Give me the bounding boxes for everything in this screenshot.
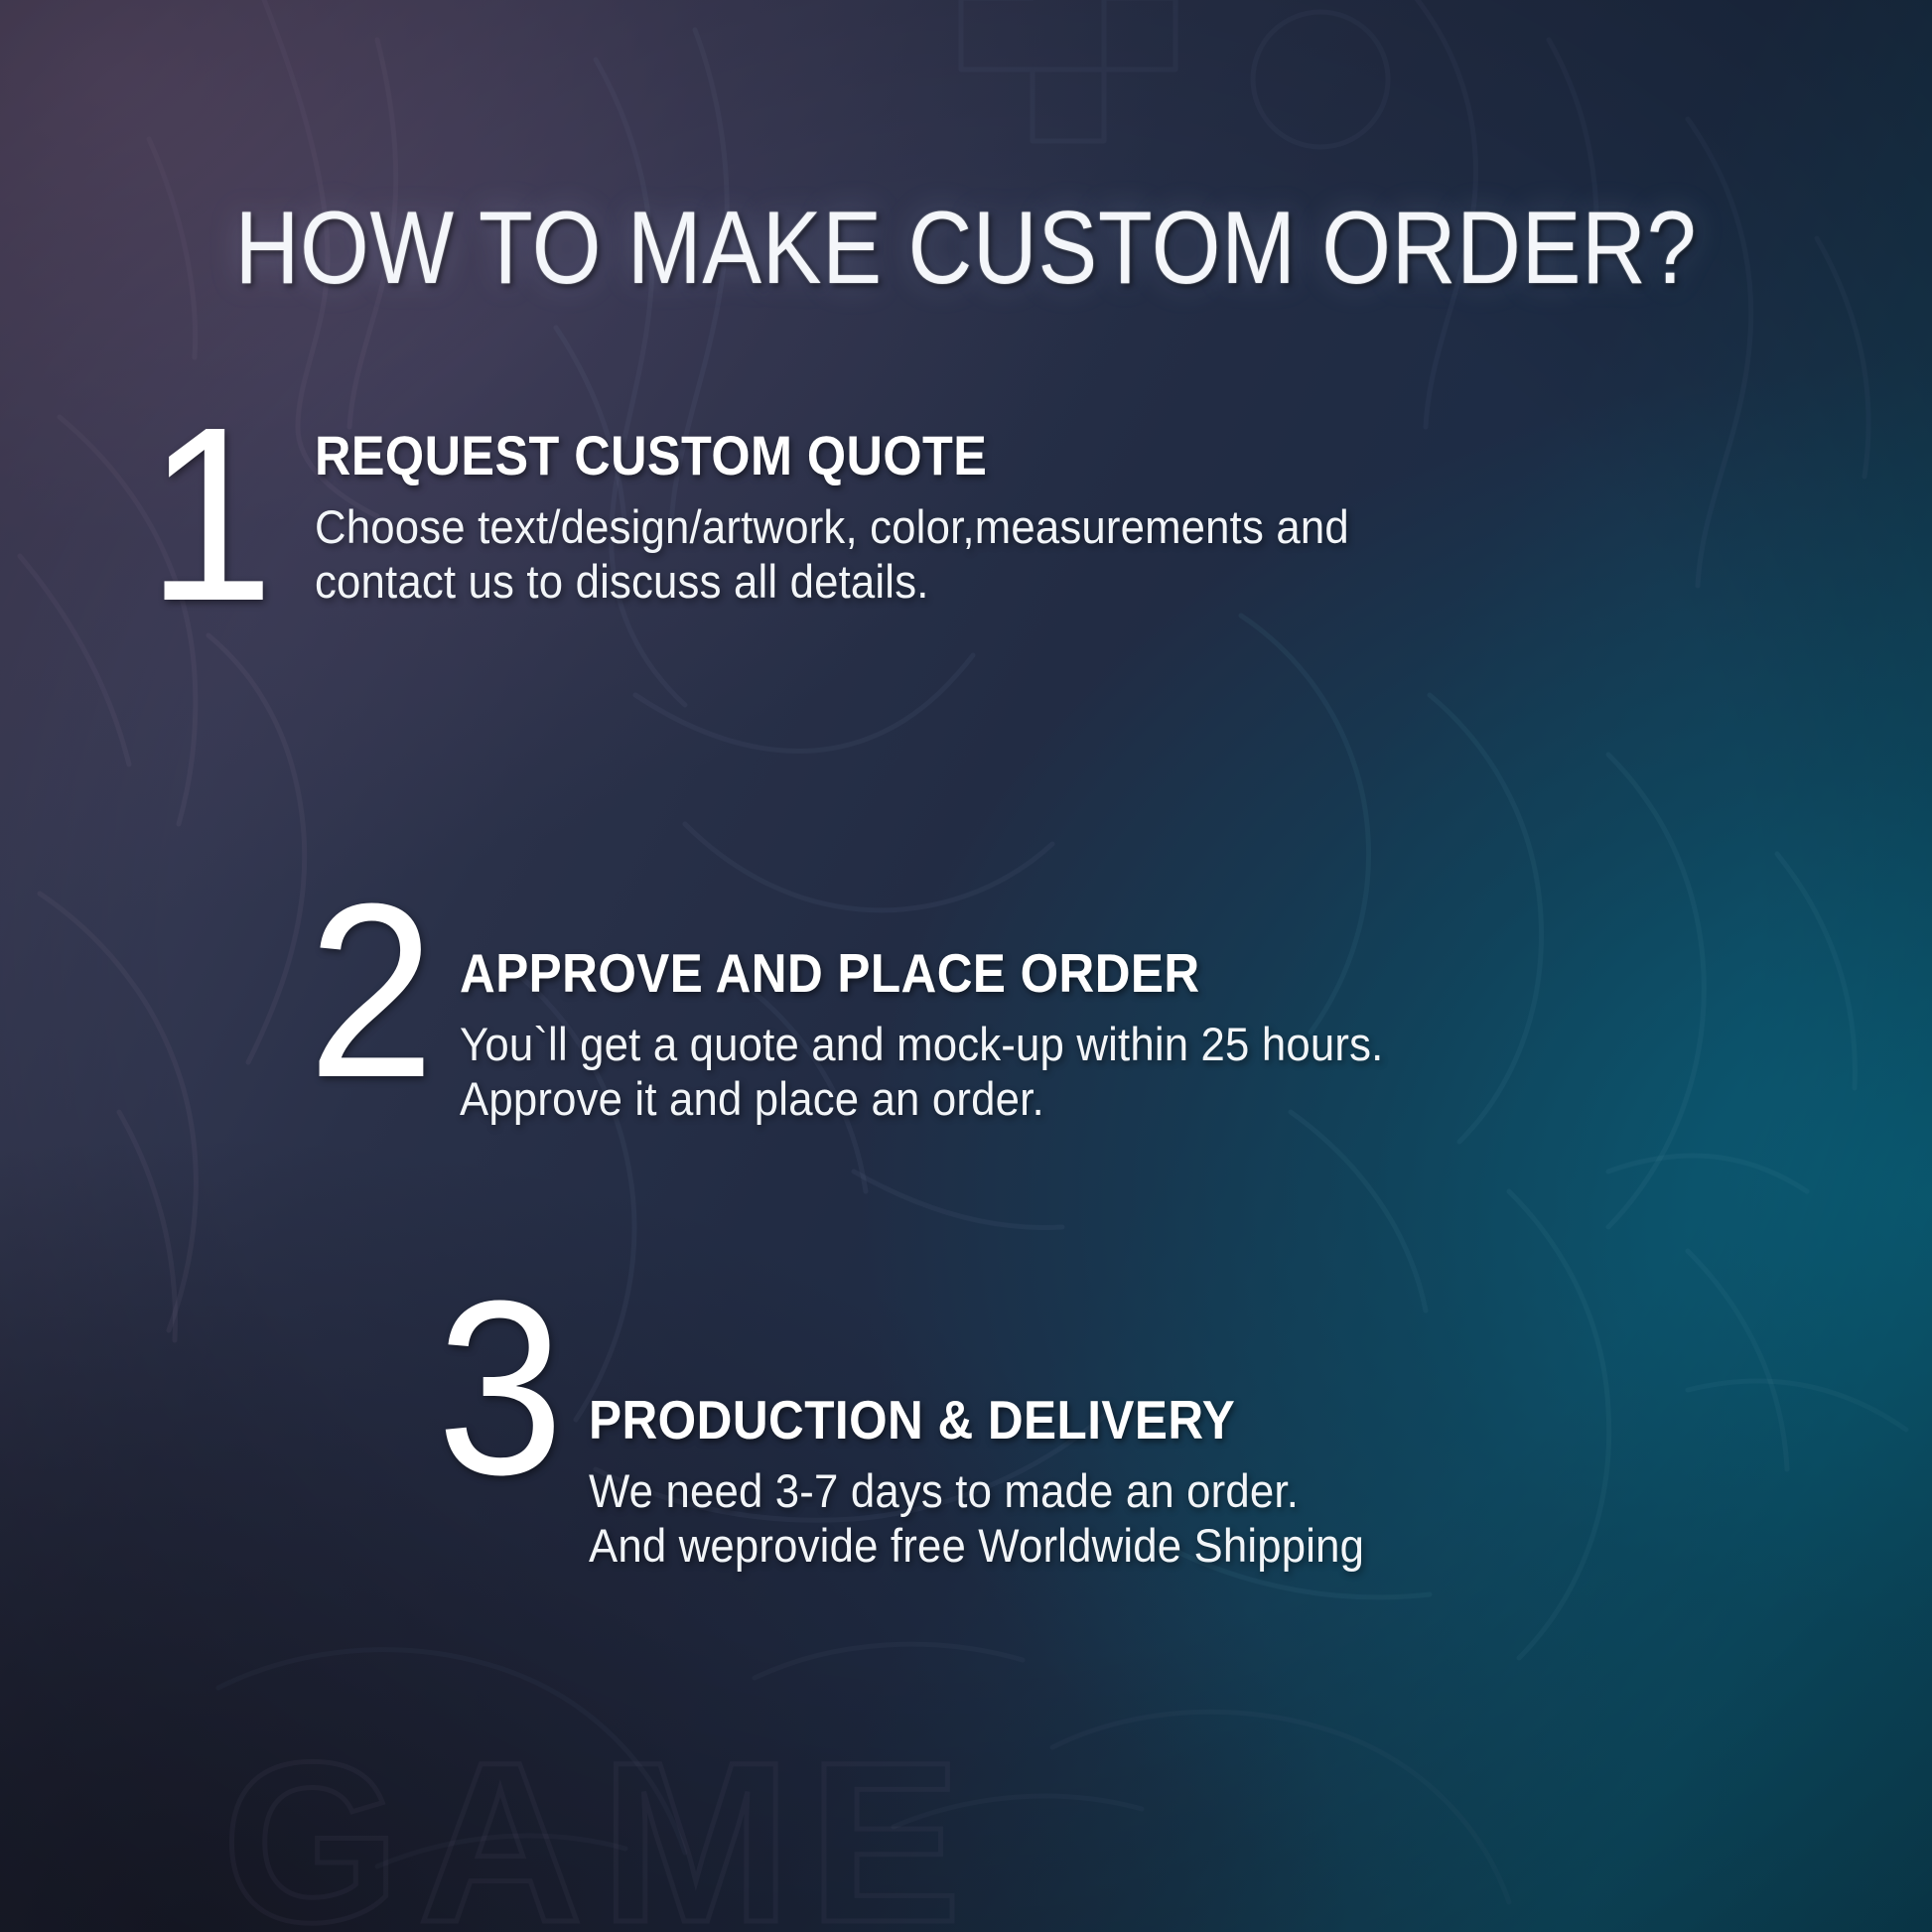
step-number-2: 2 <box>308 894 431 1087</box>
step-description-3-line-1: We need 3-7 days to made an order. <box>589 1464 1795 1519</box>
step-description-2-line-1: You`ll get a quote and mock-up within 25… <box>460 1018 1758 1072</box>
step-description-1-line-2: contact us to discuss all details. <box>315 555 1673 610</box>
step-description-2: You`ll get a quote and mock-up within 25… <box>460 1018 1758 1126</box>
step-body-1: REQUEST CUSTOM QUOTE Choose text/design/… <box>315 417 1775 609</box>
step-heading-3: PRODUCTION & DELIVERY <box>589 1392 1756 1449</box>
poster-canvas: GAME HOW TO MAKE CUSTOM ORDER? 1 REQUEST… <box>0 0 1932 1932</box>
step-number-1: 1 <box>147 417 270 611</box>
step-description-1-line-1: Choose text/design/artwork, color,measur… <box>315 500 1673 555</box>
step-item-3: 3 PRODUCTION & DELIVERY We need 3-7 days… <box>437 1291 1886 1573</box>
step-heading-2: APPROVE AND PLACE ORDER <box>460 945 1717 1002</box>
page-title: HOW TO MAKE CUSTOM ORDER? <box>135 197 1797 300</box>
step-description-1: Choose text/design/artwork, color,measur… <box>315 500 1673 609</box>
step-description-3: We need 3-7 days to made an order. And w… <box>589 1464 1795 1573</box>
step-item-2: 2 APPROVE AND PLACE ORDER You`ll get a q… <box>308 894 1857 1126</box>
step-body-3: PRODUCTION & DELIVERY We need 3-7 days t… <box>589 1291 1886 1573</box>
step-description-2-line-2: Approve it and place an order. <box>460 1072 1758 1127</box>
step-body-2: APPROVE AND PLACE ORDER You`ll get a quo… <box>460 894 1857 1126</box>
poster-content: HOW TO MAKE CUSTOM ORDER? 1 REQUEST CUST… <box>0 0 1932 1932</box>
step-number-3: 3 <box>437 1291 560 1484</box>
step-description-3-line-2: And weprovide free Worldwide Shipping <box>589 1519 1795 1574</box>
step-heading-1: REQUEST CUSTOM QUOTE <box>315 427 1629 484</box>
step-item-1: 1 REQUEST CUSTOM QUOTE Choose text/desig… <box>147 417 1775 611</box>
